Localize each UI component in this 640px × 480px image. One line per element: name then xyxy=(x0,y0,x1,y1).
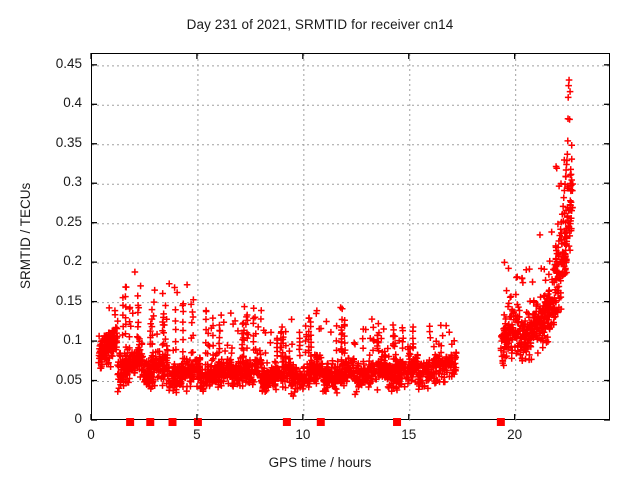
data-point-marker xyxy=(564,151,571,158)
data-point-marker xyxy=(526,266,533,273)
zero-flag-marker xyxy=(126,418,134,426)
data-point-marker xyxy=(323,318,330,325)
data-point-marker xyxy=(216,334,223,341)
zero-flag-marker xyxy=(146,418,154,426)
data-point-marker xyxy=(154,331,161,338)
data-point-marker xyxy=(501,259,508,266)
data-point-marker xyxy=(366,352,373,359)
data-point-marker xyxy=(172,318,179,325)
data-point-marker xyxy=(426,323,433,330)
data-point-marker xyxy=(267,339,274,346)
data-point-marker xyxy=(380,326,387,333)
data-point-marker xyxy=(252,314,259,321)
data-point-marker xyxy=(410,335,417,342)
data-point-marker xyxy=(542,277,549,284)
data-point-marker xyxy=(180,327,187,334)
data-point-marker xyxy=(328,329,335,336)
data-point-marker xyxy=(439,332,446,339)
data-point-marker xyxy=(513,274,520,281)
data-point-marker xyxy=(180,319,187,326)
data-point-marker xyxy=(370,324,377,331)
data-point-marker xyxy=(258,316,265,323)
data-point-marker xyxy=(503,287,510,294)
data-point-marker xyxy=(172,326,179,333)
data-point-marker xyxy=(506,300,513,307)
chart-root: Day 231 of 2021, SRMTID for receiver cn1… xyxy=(0,0,640,480)
data-point-marker xyxy=(190,314,197,321)
plot-area xyxy=(91,53,610,420)
data-point-marker xyxy=(250,315,257,322)
data-point-marker xyxy=(216,340,223,347)
data-point-marker xyxy=(546,271,553,278)
x-tick-label: 15 xyxy=(379,427,439,442)
data-point-marker xyxy=(446,329,453,336)
data-point-marker xyxy=(399,338,406,345)
y-axis-label: SRMTID / TECUs xyxy=(18,182,33,288)
data-point-marker xyxy=(250,338,257,345)
data-point-marker xyxy=(565,82,572,89)
data-point-marker xyxy=(568,156,575,163)
data-point-marker xyxy=(341,340,348,347)
data-point-marker xyxy=(241,303,248,310)
x-tick-label: 20 xyxy=(485,427,545,442)
data-point-marker xyxy=(427,334,434,341)
zero-flag-marker xyxy=(393,418,401,426)
data-point-marker xyxy=(568,177,575,184)
data-point-marker xyxy=(360,345,367,352)
data-point-marker xyxy=(188,349,195,356)
data-point-marker xyxy=(546,258,553,265)
data-point-marker xyxy=(539,344,546,351)
data-point-marker xyxy=(351,340,358,347)
y-tick-label: 0.1 xyxy=(8,332,82,347)
data-point-marker xyxy=(505,265,512,272)
data-point-marker xyxy=(134,293,141,300)
data-point-marker xyxy=(106,305,113,312)
data-point-marker xyxy=(333,347,340,354)
data-point-marker xyxy=(258,307,265,314)
data-point-marker xyxy=(112,311,119,318)
data-point-marker xyxy=(132,269,139,276)
data-point-marker xyxy=(279,324,286,331)
data-point-marker xyxy=(567,247,574,254)
y-tick-label: 0.45 xyxy=(8,56,82,71)
data-point-marker xyxy=(399,345,406,352)
data-point-marker xyxy=(297,352,304,359)
data-point-marker xyxy=(565,94,572,101)
data-point-marker xyxy=(135,334,142,341)
y-tick-label: 0.25 xyxy=(8,214,82,229)
data-point-marker xyxy=(369,316,376,323)
data-point-marker xyxy=(516,307,523,314)
data-point-marker xyxy=(352,341,359,348)
zero-flag-marker xyxy=(168,418,176,426)
data-point-marker xyxy=(286,348,293,355)
zero-flag-marker xyxy=(194,418,202,426)
x-tick-label: 0 xyxy=(61,427,121,442)
data-point-marker xyxy=(560,194,567,201)
y-tick-label: 0 xyxy=(8,411,82,426)
data-point-marker xyxy=(520,279,527,286)
data-point-marker xyxy=(159,290,166,297)
data-point-marker xyxy=(114,388,121,395)
data-point-marker xyxy=(166,280,173,287)
data-point-marker xyxy=(548,229,555,236)
y-tick-label: 0.3 xyxy=(8,174,82,189)
data-point-marker xyxy=(564,138,571,145)
data-point-marker xyxy=(374,387,381,394)
x-tick-label: 5 xyxy=(167,427,227,442)
data-point-marker xyxy=(537,232,544,239)
data-point-marker xyxy=(568,142,575,149)
y-tick-label: 0.4 xyxy=(8,95,82,110)
data-point-marker xyxy=(239,321,246,328)
data-point-marker xyxy=(159,342,166,349)
data-point-marker xyxy=(438,322,445,329)
data-point-marker xyxy=(218,312,225,319)
data-point-marker xyxy=(180,336,187,343)
data-point-marker xyxy=(255,324,262,331)
data-point-marker xyxy=(129,310,136,317)
zero-flag-marker xyxy=(497,418,505,426)
data-point-marker xyxy=(296,329,303,336)
data-point-marker xyxy=(333,323,340,330)
data-point-marker xyxy=(122,284,129,291)
data-point-marker xyxy=(203,316,210,323)
data-point-marker xyxy=(375,320,382,327)
data-point-marker xyxy=(151,299,158,306)
data-point-marker xyxy=(306,315,313,322)
data-point-marker xyxy=(162,302,169,309)
zero-flag-marker xyxy=(317,418,325,426)
data-point-marker xyxy=(184,281,191,288)
data-point-marker xyxy=(135,309,142,316)
data-point-marker xyxy=(390,322,397,329)
data-point-marker xyxy=(289,341,296,348)
zero-flag-marker xyxy=(283,418,291,426)
data-point-marker xyxy=(262,350,269,357)
data-point-marker xyxy=(529,279,536,286)
data-points-layer xyxy=(92,54,611,421)
y-tick-label: 0.05 xyxy=(8,372,82,387)
data-point-marker xyxy=(203,307,210,314)
y-tick-label: 0.15 xyxy=(8,293,82,308)
data-point-marker xyxy=(563,167,570,174)
data-point-marker xyxy=(189,319,196,326)
data-point-marker xyxy=(210,315,217,322)
data-point-marker xyxy=(137,283,144,290)
data-point-marker xyxy=(151,287,158,294)
data-point-marker xyxy=(180,348,187,355)
data-point-marker xyxy=(149,306,156,313)
data-point-marker xyxy=(390,332,397,339)
x-tick-label: 10 xyxy=(273,427,333,442)
data-point-marker xyxy=(172,338,179,345)
data-point-marker xyxy=(272,358,279,365)
data-point-marker xyxy=(288,316,295,323)
data-point-marker xyxy=(114,318,121,325)
data-point-marker xyxy=(567,88,574,95)
y-tick-label: 0.2 xyxy=(8,253,82,268)
data-point-marker xyxy=(180,308,187,315)
data-point-marker xyxy=(135,319,142,326)
data-point-marker xyxy=(410,324,417,331)
x-axis-label: GPS time / hours xyxy=(0,455,640,470)
y-tick-label: 0.35 xyxy=(8,135,82,150)
data-point-marker xyxy=(535,350,542,357)
data-point-marker xyxy=(228,310,235,317)
page-title: Day 231 of 2021, SRMTID for receiver cn1… xyxy=(0,17,640,32)
data-point-marker xyxy=(172,306,179,313)
data-point-marker xyxy=(546,287,553,294)
data-point-marker xyxy=(359,335,366,342)
data-point-marker xyxy=(296,335,303,342)
data-point-marker xyxy=(250,305,257,312)
data-point-marker xyxy=(187,383,194,390)
